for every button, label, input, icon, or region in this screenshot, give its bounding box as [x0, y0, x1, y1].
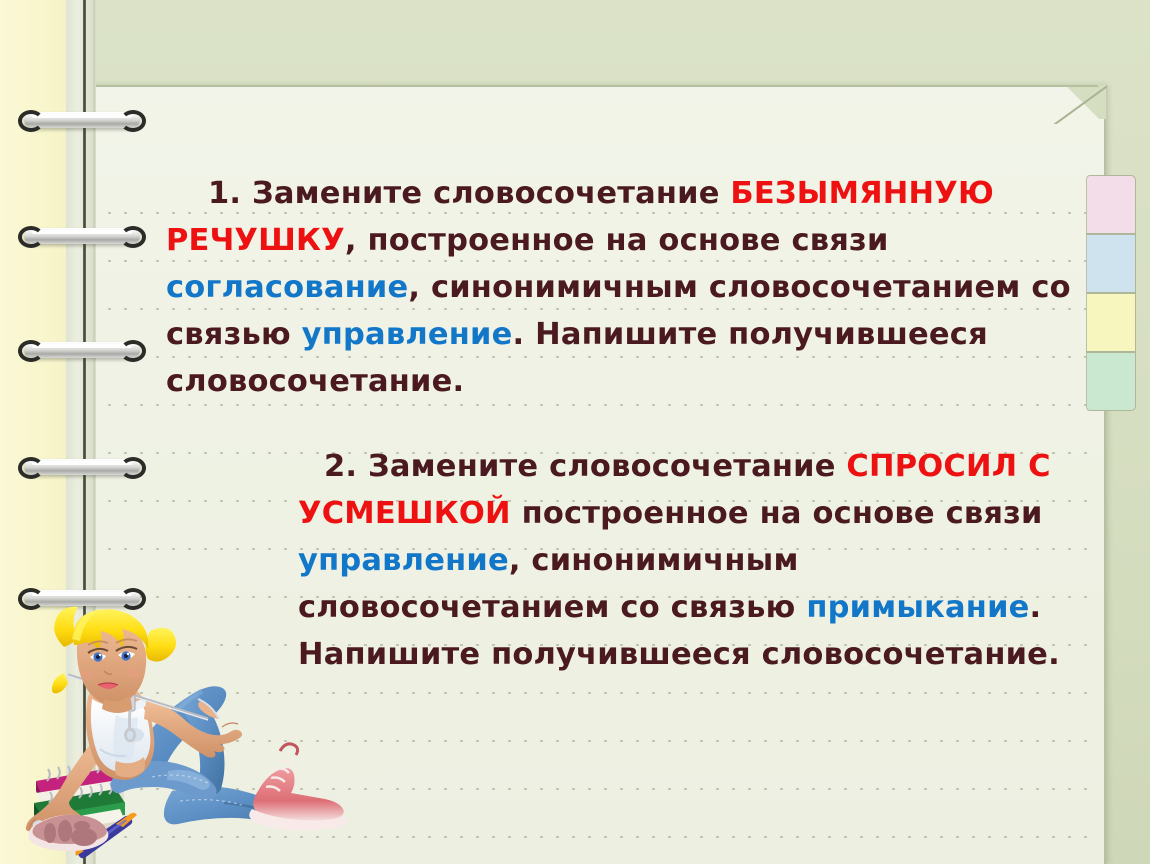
spiral-ring-right-cap: [120, 110, 146, 132]
sneaker-far: [249, 744, 348, 831]
ruled-line: [28, 548, 1088, 550]
ruled-line: [28, 308, 1088, 310]
tab-yellow[interactable]: [1086, 293, 1136, 352]
spiral-ring-highlight: [32, 230, 132, 234]
spiral-ring-highlight: [32, 114, 132, 118]
ruled-line: [28, 452, 1088, 454]
tab-pink[interactable]: [1086, 175, 1136, 234]
spiral-ring: [18, 340, 146, 362]
spiral-ring-right-cap: [120, 226, 146, 248]
head: [52, 607, 176, 713]
spiral-ring-right-cap: [120, 340, 146, 362]
spiral-ring: [18, 226, 146, 248]
spiral-ring-left-cap: [18, 226, 44, 248]
ruled-line: [28, 212, 1088, 214]
spiral-ring-left-cap: [18, 340, 44, 362]
spiral-ring: [18, 110, 146, 132]
ruled-line: [28, 260, 1088, 262]
index-tabs[interactable]: [1086, 175, 1136, 411]
tab-blue[interactable]: [1086, 234, 1136, 293]
ruled-line: [28, 500, 1088, 502]
spiral-ring-left-cap: [18, 457, 44, 479]
spiral-ring-highlight: [32, 344, 132, 348]
ruled-line: [28, 404, 1088, 406]
cartoon-girl-illustration: [12, 595, 360, 864]
spiral-ring: [18, 457, 146, 479]
spiral-ring-left-cap: [18, 110, 44, 132]
tab-green[interactable]: [1086, 352, 1136, 411]
spiral-ring-right-cap: [120, 457, 146, 479]
ruled-line: [28, 356, 1088, 358]
spiral-ring-highlight: [32, 461, 132, 465]
